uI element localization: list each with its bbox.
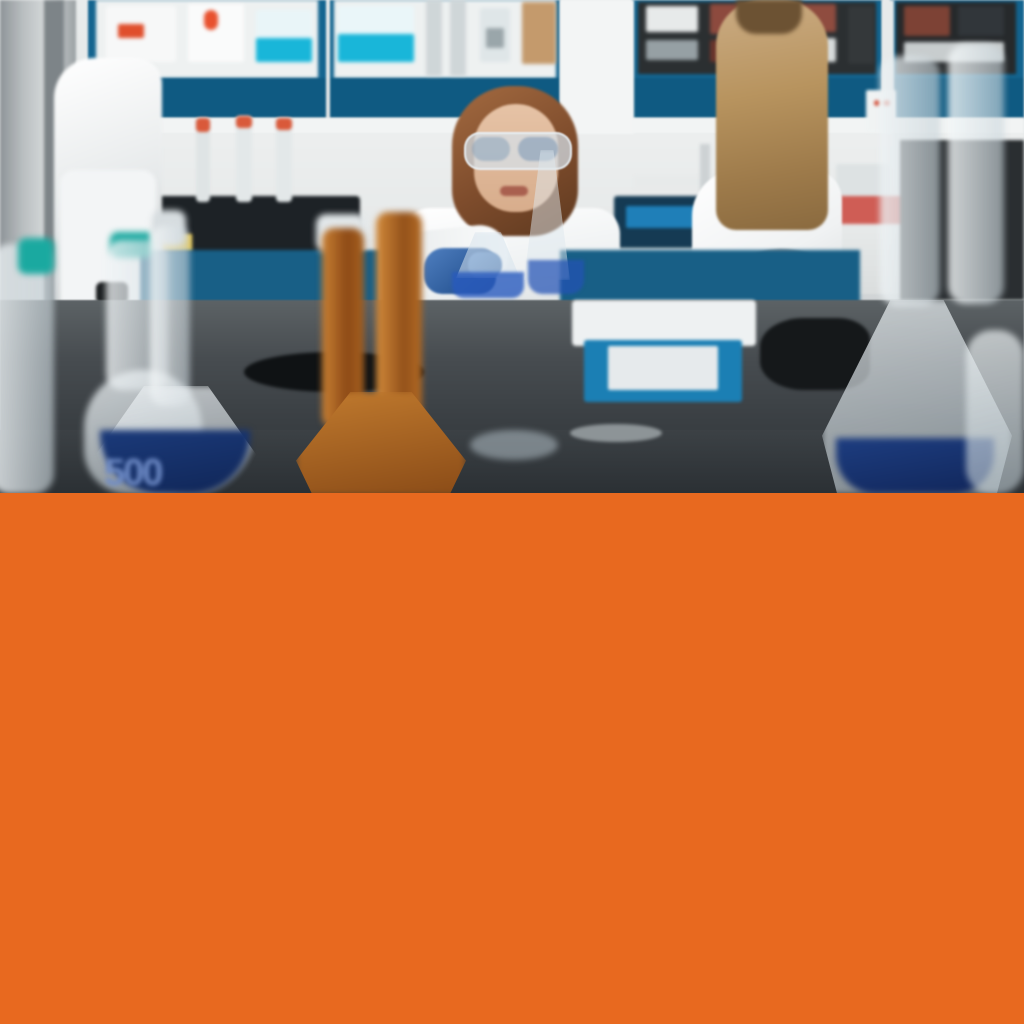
blue-liquid-flask-2 <box>528 260 584 294</box>
tongs <box>570 424 662 442</box>
foreground-glass-right-2 <box>948 44 1004 304</box>
scientist-right-hair-top <box>736 0 802 34</box>
wall-panel <box>560 0 634 136</box>
test-tube-cap-1 <box>196 118 210 132</box>
foreground-glass-left <box>0 244 54 493</box>
volumetric-neck-center <box>150 226 190 406</box>
foreground-glass-right-1 <box>880 56 940 306</box>
scientist-center-mouth <box>500 186 528 196</box>
test-tube-cap-3 <box>276 118 292 130</box>
balance-display <box>608 346 718 390</box>
scientist-right-hair <box>716 0 828 230</box>
blue-liquid-flask <box>452 272 524 298</box>
teal-cap-left <box>18 238 54 274</box>
orange-panel: THERE IS A FINE LINE BETWEEN PASSION AND… <box>0 493 1024 1024</box>
test-tube-3 <box>276 118 292 202</box>
test-tube-2 <box>236 116 252 202</box>
flask-volume-label: 500 <box>104 452 182 488</box>
lab-photo: 500 <box>0 0 1024 493</box>
headline-line-1: THERE IS A FINE LINE <box>76 1017 976 1024</box>
petri-dish <box>470 430 558 460</box>
amber-neck-2 <box>376 212 422 422</box>
goggles-lens-left <box>472 137 510 161</box>
page-title: THERE IS A FINE LINE BETWEEN PASSION AND… <box>76 1017 976 1024</box>
foreground-glass-right-3 <box>966 330 1024 493</box>
test-tube-cap-2 <box>236 116 252 128</box>
poster: 500 THERE IS A FINE LINE BETWEEN PASSION… <box>0 0 1024 1024</box>
